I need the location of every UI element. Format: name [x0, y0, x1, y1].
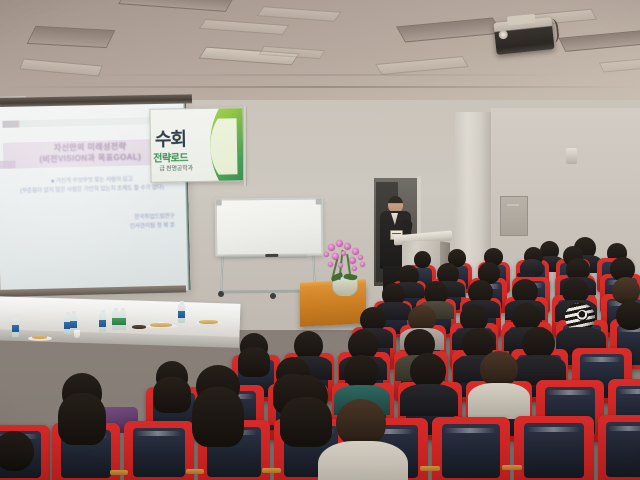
- projector-lens: [498, 30, 508, 40]
- banner-headline: 수회: [155, 125, 187, 152]
- audience-head: [336, 399, 386, 447]
- seat-wood-trim: [420, 466, 440, 471]
- ceiling-seam: [80, 74, 560, 76]
- audience-head: [480, 351, 518, 387]
- whiteboard-corner: [316, 198, 322, 204]
- audience-head: [344, 355, 379, 389]
- ceiling-vent: [118, 0, 234, 12]
- projector: [493, 17, 554, 55]
- audience-hair: [58, 393, 106, 445]
- audience-hair: [238, 347, 270, 377]
- banner-caption: 급 천명공학과: [159, 163, 193, 173]
- ceiling-seam: [0, 86, 640, 88]
- auditorium-seating: [0, 255, 640, 480]
- audience-head: [0, 431, 34, 471]
- seat[interactable]: [514, 416, 594, 480]
- audience-hair: [192, 387, 244, 447]
- whiteboard: [215, 197, 324, 256]
- audience-head: [410, 353, 446, 388]
- slide-credit: 한국취업드림연구 인사관리팀 정 복 호: [75, 213, 175, 233]
- ceiling-light: [375, 56, 469, 75]
- seat[interactable]: [598, 415, 640, 480]
- seat-wood-trim: [502, 465, 522, 470]
- orchid-bloom: [352, 248, 359, 255]
- ceiling-light: [599, 57, 640, 72]
- audience-cap: [520, 259, 544, 277]
- event-banner: 수회 전략로드 급 천명공학과: [149, 107, 244, 183]
- seat[interactable]: [432, 417, 510, 480]
- panel-slot: [507, 204, 519, 206]
- seat-wood-trim: [262, 468, 281, 473]
- audience-shoulders: [468, 383, 530, 419]
- audience-head: [612, 277, 640, 304]
- beanie-swirl: [577, 310, 588, 321]
- ceiling-light: [256, 6, 341, 22]
- slide-credit-line2: 인사관리팀 정 복 호: [75, 222, 175, 233]
- audience-head: [616, 301, 640, 330]
- ceiling-vent: [396, 18, 502, 43]
- seat-wood-trim: [186, 469, 204, 474]
- wall-speaker: [566, 148, 577, 164]
- seat[interactable]: [124, 421, 194, 480]
- orchid-bloom: [336, 240, 343, 247]
- audience-hair: [280, 397, 332, 447]
- banner-pole: [243, 106, 247, 186]
- ceiling-vent: [27, 26, 116, 48]
- projector-housing: [507, 14, 536, 26]
- audience-head: [414, 251, 431, 268]
- audience-shoulders: [318, 441, 408, 480]
- wall-access-panel: [500, 196, 528, 236]
- ceiling-light: [199, 19, 290, 35]
- audience-hair: [153, 377, 191, 413]
- orchid-bloom: [328, 244, 335, 251]
- audience-shoulders: [400, 384, 458, 416]
- whiteboard-assembly: [215, 198, 323, 256]
- seat-wood-trim: [110, 470, 128, 475]
- photo-scene: 자신만의 미래성전략 (비전VISION과 목표GOAL) ■ 가진게 무엇무엇…: [0, 0, 640, 480]
- ceiling-vent: [558, 30, 640, 52]
- orchid-bloom: [344, 243, 351, 250]
- whiteboard-corner: [216, 199, 222, 205]
